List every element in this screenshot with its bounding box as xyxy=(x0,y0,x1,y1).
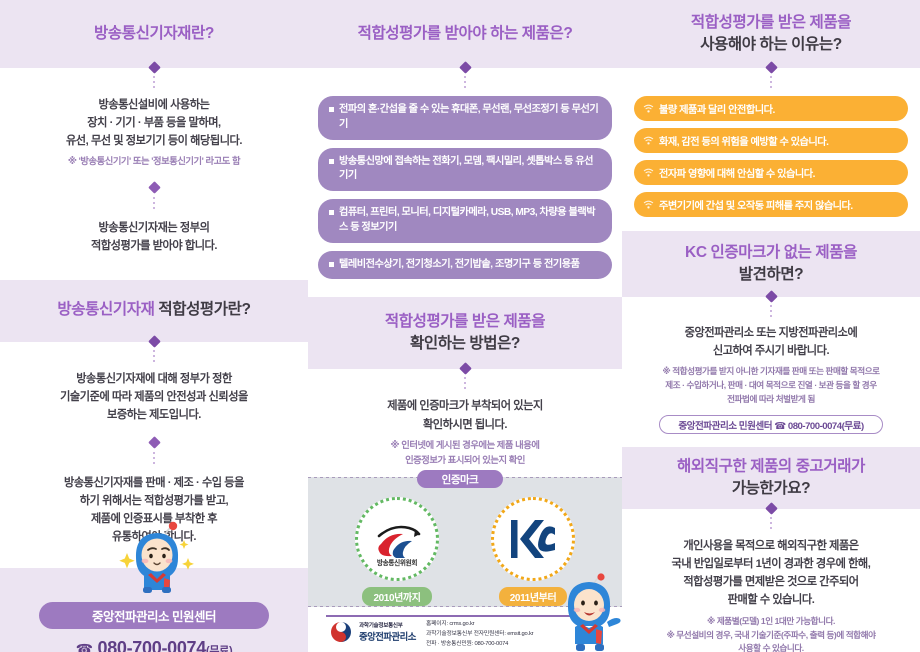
right-body-3: 개인사용을 목적으로 해외직구한 제품은 국내 반입일로부터 1년이 경과한 경… xyxy=(622,537,920,610)
right-header-3: 해외직구한 제품의 중고거래가 가능한가요? xyxy=(622,447,920,509)
right-header-2-hl: KC 인증마크가 없는 제품을 xyxy=(685,244,857,261)
middle-header-2: 적합성평가를 받은 제품을 확인하는 방법은? xyxy=(308,297,622,369)
left-body-3: 방송통신기자재에 대해 정부가 정한 기술기준에 따라 제품의 안전성과 신뢰성… xyxy=(0,370,308,424)
kc-logo-icon xyxy=(506,516,560,562)
dotted-line xyxy=(153,452,155,466)
org-agency-name: 중앙전파관리소 xyxy=(359,629,416,643)
diamond-icon xyxy=(148,436,161,449)
list-item-label: 불량 제품과 달리 안전합니다. xyxy=(659,101,775,116)
text-line: 유선, 무선 및 정보기기 등이 해당됩니다. xyxy=(0,132,308,150)
left-note-1: ※ '방송통신기기' 또는 '정보통신기기' 라고도 함 xyxy=(0,154,308,169)
middle-note: ※ 인터넷에 게시된 경우에는 제품 내용에 인증정보가 표시되어 있는지 확인 xyxy=(308,438,622,468)
text-line: ※ 무선설비의 경우, 국내 기술기준(주파수, 출력 등)에 적합해야 xyxy=(622,629,920,643)
middle-header-1: 적합성평가를 받아야 하는 제품은? xyxy=(308,0,622,68)
mark-circle-kc xyxy=(491,497,575,581)
text-line: 전파법에 따라 처벌받게 됨 xyxy=(622,393,920,407)
mascot-character-left xyxy=(118,518,198,594)
text-line: 하기 위해서는 적합성평가를 받고, xyxy=(0,492,308,510)
left-tel-free: (무료) xyxy=(206,645,232,652)
text-line: 판매할 수 있습니다. xyxy=(622,591,920,609)
middle-header-2-rest: 확인하는 방법은? xyxy=(410,335,520,352)
list-item-label: 방송통신망에 접속하는 전화기, 모뎀, 팩시밀리, 셋톱박스 등 유선기기 xyxy=(339,155,600,185)
right-header-3-hl: 해외직구한 제품의 중고거래가 xyxy=(677,458,865,475)
connector-right-1 xyxy=(622,68,920,90)
text-line: 신고하여 주시기 바랍니다. xyxy=(622,342,920,360)
phone-icon: ☎ xyxy=(76,641,93,652)
certification-mark-tag-label: 인증마크 xyxy=(442,472,479,487)
left-cta-button[interactable]: 중앙전파관리소 민원센터 xyxy=(39,602,269,629)
connector-left-1 xyxy=(0,68,308,90)
mark-kcc-caption: 방송통신위원회 xyxy=(358,557,436,567)
text-line: ※ 인터넷에 게시된 경우에는 제품 내용에 xyxy=(308,438,622,453)
list-item-label: 컴퓨터, 프린터, 모니터, 디지털카메라, USB, MP3, 차량용 블랙박… xyxy=(339,206,600,236)
left-header-1: 방송통신기자재란? xyxy=(0,0,308,68)
list-item-label: 주변기기에 간섭 및 오작동 피해를 주지 않습니다. xyxy=(659,197,853,212)
text-line: 중앙전파관리소 또는 지방전파관리소에 xyxy=(622,324,920,342)
contact-line: 전파 · 방송통신민원: 080-700-0074 xyxy=(426,639,533,649)
connector-right-3 xyxy=(622,509,920,531)
text-line: 보증하는 제도입니다. xyxy=(0,406,308,424)
list-item-label: 전파의 혼·간섭을 줄 수 있는 휴대폰, 무선랜, 무선조정기 등 무선기기 xyxy=(339,103,600,133)
dotted-line xyxy=(464,76,466,90)
list-item: 컴퓨터, 프린터, 모니터, 디지털카메라, USB, MP3, 차량용 블랙박… xyxy=(318,199,612,243)
connector-mid-1 xyxy=(308,68,622,90)
list-item: 불량 제품과 달리 안전합니다. xyxy=(634,96,908,121)
list-item-label: 텔레비전수상기, 전기청소기, 전기밥솥, 조명기구 등 전기용품 xyxy=(339,258,579,273)
right-header-2: KC 인증마크가 없는 제품을 발견하면? xyxy=(622,231,920,297)
middle-header-1-title: 적합성평가를 받아야 하는 제품은? xyxy=(358,25,573,42)
contact-line: 과학기술정보통신부 전자민원센터: emsit.go.kr xyxy=(426,629,533,639)
dotted-line xyxy=(770,517,772,531)
text-line: 장치 · 기기 · 부품 등을 말하며, xyxy=(0,114,308,132)
mark-kcc-year: 2010년까지 xyxy=(362,587,431,606)
right-note-3: ※ 제품별(모델) 1인 1대만 가능합니다. ※ 무선설비의 경우, 국내 기… xyxy=(622,615,920,652)
left-cta-label: 중앙전파관리소 민원센터 xyxy=(92,606,216,625)
left-header-2-hl: 방송통신기자재 xyxy=(57,301,154,318)
text-line: 확인하시면 됩니다. xyxy=(308,416,622,434)
mark-circle-kcc: 방송통신위원회 xyxy=(355,497,439,581)
text-line: 기술기준에 따라 제품의 안전성과 신뢰성을 xyxy=(0,388,308,406)
text-line: 인증정보가 표시되어 있는지 확인 xyxy=(308,453,622,468)
list-item: 전파의 혼·간섭을 줄 수 있는 휴대폰, 무선랜, 무선조정기 등 무선기기 xyxy=(318,96,612,140)
list-item-label: 화재, 감전 등의 위험을 예방할 수 있습니다. xyxy=(659,133,828,148)
text-line: 적합성평가를 받아야 합니다. xyxy=(0,237,308,255)
text-line: 적합성평가를 면제받은 것으로 간주되어 xyxy=(622,573,920,591)
left-header-2: 방송통신기자재 적합성평가란? xyxy=(0,280,308,342)
kcc-logo-icon xyxy=(371,520,423,558)
text-line: 방송통신기자재를 판매 · 제조 · 수입 등을 xyxy=(0,474,308,492)
square-bullet-icon xyxy=(329,107,334,112)
text-line: ※ 제품별(모델) 1인 1대만 가능합니다. xyxy=(622,615,920,629)
left-body-1: 방송통신설비에 사용하는 장치 · 기기 · 부품 등을 말하며, 유선, 무선… xyxy=(0,96,308,150)
left-tel-number: 080-700-0074 xyxy=(97,638,206,652)
connector-mid-2 xyxy=(308,369,622,391)
certification-mark-tag: 인증마크 xyxy=(417,470,503,488)
list-item: 방송통신망에 접속하는 전화기, 모뎀, 팩시밀리, 셋톱박스 등 유선기기 xyxy=(318,148,612,192)
text-line: 개인사용을 목적으로 해외직구한 제품은 xyxy=(622,537,920,555)
dotted-line xyxy=(153,76,155,90)
middle-body: 제품에 인증마크가 부착되어 있는지 확인하시면 됩니다. xyxy=(308,397,622,433)
list-item: 화재, 감전 등의 위험을 예방할 수 있습니다. xyxy=(634,128,908,153)
wifi-icon xyxy=(643,200,654,209)
dotted-line xyxy=(153,350,155,364)
wifi-icon xyxy=(643,104,654,113)
contact-information: 홈페이지: crms.go.kr 과학기술정보통신부 전자민원센터: emsit… xyxy=(426,619,533,649)
contact-line: 홈페이지: crms.go.kr xyxy=(426,619,533,629)
mark-kcc: 방송통신위원회 2010년까지 xyxy=(355,497,439,606)
organization-identity: 과학기술정보통신부 중앙전파관리소 xyxy=(330,621,416,643)
left-header-1-title: 방송통신기자재란? xyxy=(94,25,214,42)
right-header-3-rest: 가능한가요? xyxy=(732,480,810,497)
government-taegeuk-icon xyxy=(330,621,352,643)
middle-column: 적합성평가를 받아야 하는 제품은? 전파의 혼·간섭을 줄 수 있는 휴대폰,… xyxy=(308,0,622,468)
right-header-2-rest: 발견하면? xyxy=(739,266,804,283)
text-line: 제품에 인증마크가 부착되어 있는지 xyxy=(308,397,622,415)
right-body-2: 중앙전파관리소 또는 지방전파관리소에 신고하여 주시기 바랍니다. xyxy=(622,324,920,360)
infographic-page: 방송통신기자재란? 방송통신설비에 사용하는 장치 · 기기 · 부품 등을 말… xyxy=(0,0,920,652)
connector-left-3 xyxy=(0,342,308,364)
text-line: 제조 · 수입하거나, 판매 · 대여 목적으로 진열 · 보관 등을 할 경우 xyxy=(622,379,920,393)
middle-product-list: 전파의 혼·간섭을 줄 수 있는 휴대폰, 무선랜, 무선조정기 등 무선기기 … xyxy=(308,96,622,279)
list-item: 텔레비전수상기, 전기청소기, 전기밥솥, 조명기구 등 전기용품 xyxy=(318,251,612,280)
text-line: 사용할 수 있습니다. xyxy=(622,642,920,652)
wifi-icon xyxy=(643,168,654,177)
dotted-line xyxy=(770,305,772,319)
dotted-line xyxy=(464,377,466,391)
list-item: 주변기기에 간섭 및 오작동 피해를 주지 않습니다. xyxy=(634,192,908,217)
right-contact-pill-label: 중앙전파관리소 민원센터 ☎ 080-700-0074(무료) xyxy=(678,418,863,432)
square-bullet-icon xyxy=(329,159,334,164)
right-contact-pill[interactable]: 중앙전파관리소 민원센터 ☎ 080-700-0074(무료) xyxy=(659,415,883,434)
connector-left-2 xyxy=(0,183,308,211)
middle-header-2-hl: 적합성평가를 받은 제품을 xyxy=(385,313,545,330)
right-header-1-rest: 사용해야 하는 이유는? xyxy=(700,36,842,53)
diamond-icon xyxy=(148,181,161,194)
text-line: 국내 반입일로부터 1년이 경과한 경우에 한해, xyxy=(622,555,920,573)
org-ministry-name: 과학기술정보통신부 xyxy=(359,621,416,629)
left-column: 방송통신기자재란? 방송통신설비에 사용하는 장치 · 기기 · 부품 등을 말… xyxy=(0,0,308,547)
list-item-label: 전자파 영향에 대해 안심할 수 있습니다. xyxy=(659,165,815,180)
connector-right-2 xyxy=(622,297,920,319)
text-line: 방송통신기자재는 정부의 xyxy=(0,219,308,237)
text-line: ※ 적합성평가를 받지 아니한 기자재를 판매 또는 판매할 목적으로 xyxy=(622,365,920,379)
mascot-character-right xyxy=(556,572,632,652)
dotted-line xyxy=(770,76,772,90)
square-bullet-icon xyxy=(329,210,334,215)
left-header-2-rest: 적합성평가란? xyxy=(154,301,250,318)
connector-left-4 xyxy=(0,438,308,466)
wifi-icon xyxy=(643,136,654,145)
text-line: 방송통신설비에 사용하는 xyxy=(0,96,308,114)
right-column: 적합성평가를 받은 제품을 사용해야 하는 이유는? 불량 제품과 달리 안전합… xyxy=(622,0,920,652)
dotted-line xyxy=(153,197,155,211)
text-line: 방송통신기자재에 대해 정부가 정한 xyxy=(0,370,308,388)
left-body-2: 방송통신기자재는 정부의 적합성평가를 받아야 합니다. xyxy=(0,219,308,255)
left-telephone: ☎ 080-700-0074(무료) xyxy=(0,638,308,652)
right-reasons-list: 불량 제품과 달리 안전합니다. 화재, 감전 등의 위험을 예방할 수 있습니… xyxy=(622,96,920,217)
square-bullet-icon xyxy=(329,262,334,267)
right-header-1: 적합성평가를 받은 제품을 사용해야 하는 이유는? xyxy=(622,0,920,68)
right-note-2: ※ 적합성평가를 받지 아니한 기자재를 판매 또는 판매할 목적으로 제조 ·… xyxy=(622,365,920,407)
right-header-1-hl: 적합성평가를 받은 제품을 xyxy=(691,14,851,31)
list-item: 전자파 영향에 대해 안심할 수 있습니다. xyxy=(634,160,908,185)
